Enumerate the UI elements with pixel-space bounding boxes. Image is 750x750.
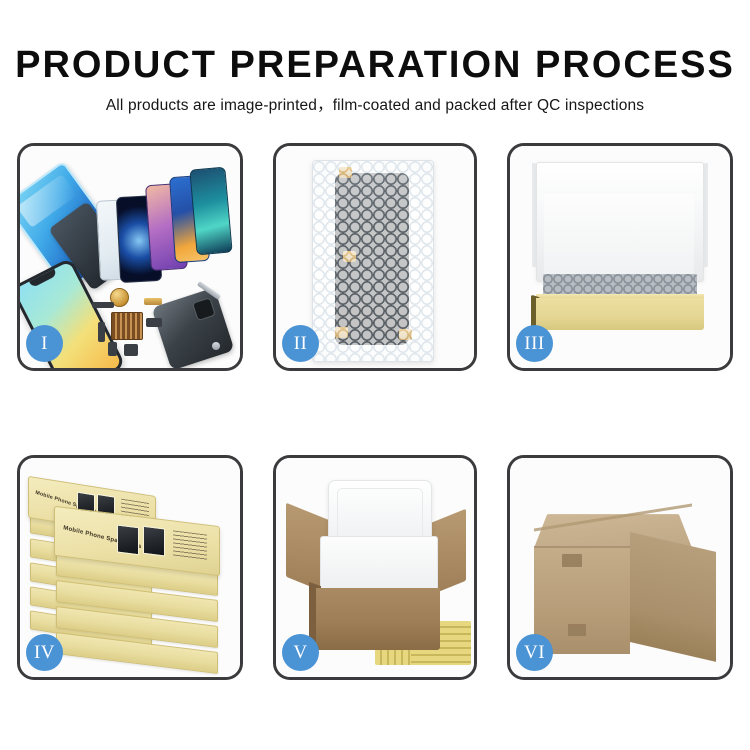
step-panel-3: III (507, 143, 733, 371)
step-badge-6: VI (516, 634, 553, 671)
spare-part-gold-flex (144, 298, 162, 305)
screw-part (212, 342, 220, 350)
spare-part-speaker (124, 344, 138, 356)
spare-part-connector (92, 302, 114, 308)
step-badge-3: III (516, 325, 553, 362)
step-badge-2: II (282, 325, 319, 362)
carton-side-panel (630, 532, 716, 662)
carton-front-panel (316, 588, 440, 650)
step-badge-5: V (282, 634, 319, 671)
page-subtitle: All products are image-printed，film-coat… (0, 87, 750, 115)
spare-part-camera-module (146, 318, 162, 327)
step-panel-6: VI (507, 455, 733, 680)
step-panel-5: V (273, 455, 477, 680)
box-print-screen-image (117, 525, 139, 556)
step-badge-1: I (26, 325, 63, 362)
white-foam-sheet (544, 194, 694, 276)
carton-tape-patch (568, 624, 586, 636)
phone-back-housing (151, 287, 234, 370)
step-panel-2: II (273, 143, 477, 371)
step-panel-1: I (17, 143, 243, 371)
header: PRODUCT PREPARATION PROCESS All products… (0, 0, 750, 115)
carton-front-panel (534, 546, 630, 654)
chip-grid-part (111, 312, 143, 340)
step-panel-4: Mobile Phone Spare Parts Mobile Phone Sp… (17, 455, 243, 680)
bubble-pattern-overlay (313, 161, 433, 361)
box-front-panel (536, 298, 704, 330)
spare-part-bracket (98, 322, 105, 342)
spare-part-button (108, 342, 117, 356)
page-title: PRODUCT PREPARATION PROCESS (0, 0, 750, 87)
phone-teal-display (189, 167, 232, 256)
box-print-screen-image (143, 526, 165, 557)
step-badge-4: IV (26, 634, 63, 671)
carton-tape-patch (562, 554, 582, 567)
bubble-wrap-bag (312, 160, 434, 362)
box-print-textblock (173, 530, 207, 560)
carton-flap-seam (534, 546, 630, 548)
foam-cooler-body (320, 536, 438, 596)
